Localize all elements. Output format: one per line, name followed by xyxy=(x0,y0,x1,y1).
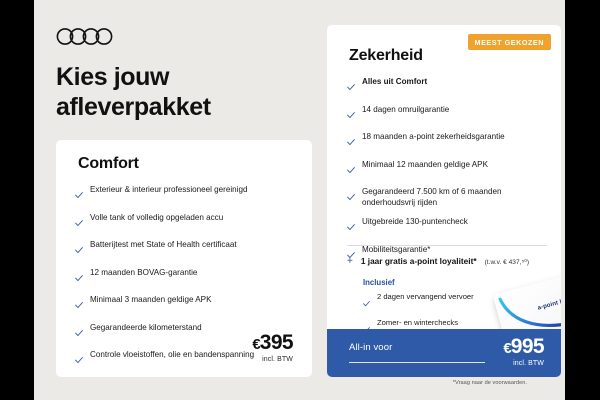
list-item: Gegarandeerd 7.500 km of 6 maanden onder… xyxy=(347,186,547,209)
comfort-feature-text: Controle vloeistoffen, olie en bandenspa… xyxy=(90,349,254,360)
currency-symbol: € xyxy=(252,336,259,353)
inclusief-item-text: 2 dagen vervangend vervoer xyxy=(377,292,474,303)
letterbox-bar-right xyxy=(565,0,600,400)
check-icon xyxy=(347,161,355,179)
check-icon xyxy=(363,294,370,312)
currency-symbol: € xyxy=(503,340,510,357)
zekerheid-price-amount: 995 xyxy=(511,335,544,358)
list-item: 12 maanden BOVAG-garantie xyxy=(75,267,297,287)
bonus-label: 1 jaar gratis a-point loyaliteit* xyxy=(361,256,477,266)
comfort-price-amount: 395 xyxy=(260,331,293,354)
comfort-price-block: €395 incl. BTW xyxy=(252,332,293,363)
footer-price-label: All-in voor xyxy=(349,342,392,353)
page-title: Kies jouw afleverpakket xyxy=(56,63,286,122)
comfort-feature-text: Batterijtest met State of Health certifi… xyxy=(90,239,237,250)
comfort-feature-text: Minimaal 3 maanden geldige APK xyxy=(90,294,211,305)
inclusief-item-text: Zomer- en winterchecks xyxy=(377,318,458,329)
check-icon xyxy=(347,78,355,96)
comfort-feature-text: Volle tank of volledig opgeladen accu xyxy=(90,212,223,223)
list-item: Minimaal 3 maanden geldige APK xyxy=(75,294,297,314)
list-item: Exterieur & interieur professioneel gere… xyxy=(75,184,297,204)
zekerheid-feature-text: 14 dagen omruilgarantie xyxy=(362,104,449,115)
list-item: Volle tank of volledig opgeladen accu xyxy=(75,212,297,232)
audi-rings-logo xyxy=(56,27,116,46)
check-icon xyxy=(75,269,83,287)
list-item: Batterijtest met State of Health certifi… xyxy=(75,239,297,259)
comfort-feature-text: 12 maanden BOVAG-garantie xyxy=(90,267,197,278)
check-icon xyxy=(347,218,355,236)
zekerheid-feature-text: 18 maanden a-point zekerheidsgarantie xyxy=(362,131,505,142)
comfort-price: €395 xyxy=(252,332,293,353)
list-item: 18 maanden a-point zekerheidsgarantie xyxy=(347,131,547,151)
fineprint-note: *Vraag naar de voorwaarden. xyxy=(453,380,527,386)
divider xyxy=(347,245,547,246)
screenshot-root: Kies jouw afleverpakket Comfort Exterieu… xyxy=(0,0,600,400)
footer-rule xyxy=(349,362,485,363)
check-icon xyxy=(347,106,355,124)
inclusief-heading: Inclusief xyxy=(363,278,513,287)
zekerheid-price-note: incl. BTW xyxy=(513,360,544,367)
zekerheid-price: €995 xyxy=(503,336,544,357)
check-icon xyxy=(347,133,355,151)
zekerheid-feature-text: Minimaal 12 maanden geldige APK xyxy=(362,159,488,170)
comfort-feature-text: Gegarandeerde kilometerstand xyxy=(90,322,202,333)
list-item: 14 dagen omruilgarantie xyxy=(347,104,547,124)
letterbox-bar-left xyxy=(0,0,34,400)
status-badge: MEEST GEKOZEN xyxy=(468,34,551,50)
zekerheid-feature-list: Alles uit Comfort 14 dagen omruilgaranti… xyxy=(347,76,547,271)
plus-icon: + xyxy=(347,257,353,267)
zekerheid-card-title: Zekerheid xyxy=(349,47,423,65)
package-card-zekerheid[interactable]: MEEST GEKOZEN Zekerheid Alles uit Comfor… xyxy=(327,25,561,377)
zekerheid-feature-text: Alles uit Comfort xyxy=(362,76,427,87)
comfort-price-note: incl. BTW xyxy=(252,356,293,363)
check-icon xyxy=(75,351,83,369)
zekerheid-price-footer: All-in voor €995 incl. BTW xyxy=(327,329,561,377)
package-card-comfort[interactable]: Comfort Exterieur & interieur profession… xyxy=(56,140,312,377)
check-icon xyxy=(75,241,83,259)
bonus-row: + 1 jaar gratis a-point loyaliteit* (t.w… xyxy=(347,256,551,267)
check-icon xyxy=(75,186,83,204)
comfort-feature-text: Exterieur & interieur professioneel gere… xyxy=(90,184,247,195)
list-item: Minimaal 12 maanden geldige APK xyxy=(347,159,547,179)
list-item: 2 dagen vervangend vervoer xyxy=(363,292,513,312)
check-icon xyxy=(75,296,83,314)
page-stage: Kies jouw afleverpakket Comfort Exterieu… xyxy=(34,0,565,400)
check-icon xyxy=(75,214,83,232)
comfort-card-title: Comfort xyxy=(78,155,139,173)
bonus-value-note: (t.w.v. € 437,⁵⁰) xyxy=(485,258,529,266)
zekerheid-feature-text: Uitgebreide 130-puntencheck xyxy=(362,216,468,227)
check-icon xyxy=(347,188,355,206)
check-icon xyxy=(75,324,83,342)
zekerheid-feature-text: Gegarandeerd 7.500 km of 6 maanden onder… xyxy=(362,186,547,209)
list-item: Alles uit Comfort xyxy=(347,76,547,96)
list-item: Uitgebreide 130-puntencheck xyxy=(347,216,547,236)
